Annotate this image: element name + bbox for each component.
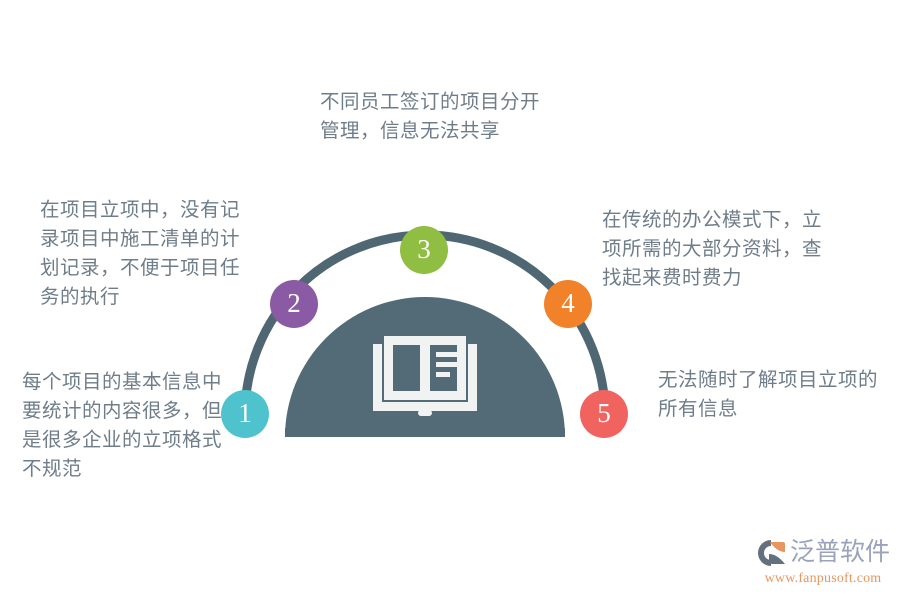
step-number-1: 1 (238, 400, 252, 427)
step-number-5: 5 (597, 400, 611, 427)
step-circle-5[interactable]: 5 (580, 390, 628, 438)
step-number-3: 3 (417, 236, 431, 263)
brand-logo: 泛普软件 www.fanpusoft.com (756, 536, 890, 588)
logo-website-url: www.fanpusoft.com (756, 571, 890, 587)
open-book-icon (373, 336, 477, 416)
logo-row: 泛普软件 (756, 536, 890, 570)
step-circle-3[interactable]: 3 (400, 226, 448, 274)
step-circle-2[interactable]: 2 (270, 280, 318, 328)
infographic-canvas: 不同员工签订的项目分开管理，信息无法共享 在项目立项中，没有记录项目中施工清单的… (0, 0, 900, 600)
callout-text-top: 不同员工签订的项目分开管理，信息无法共享 (320, 88, 558, 146)
logo-company-name: 泛普软件 (790, 538, 890, 568)
step-number-2: 2 (287, 290, 301, 317)
step-number-4: 4 (561, 290, 575, 317)
dome-base (285, 428, 565, 437)
callout-text-right-lower: 无法随时了解项目立项的所有信息 (658, 366, 878, 424)
fanpu-logo-mark-icon (756, 538, 788, 568)
step-circle-1[interactable]: 1 (221, 390, 269, 438)
step-circle-4[interactable]: 4 (544, 280, 592, 328)
